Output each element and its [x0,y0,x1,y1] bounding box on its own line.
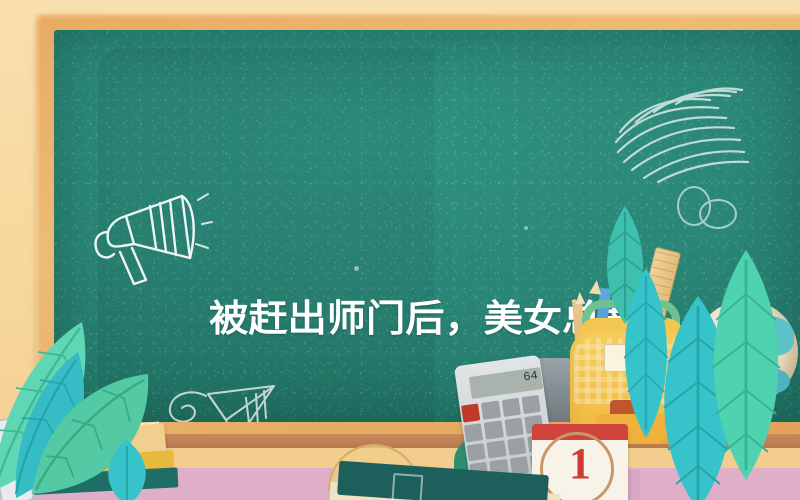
calculator-key [481,401,500,420]
pencil-tip [575,292,586,305]
book-emblem [391,473,424,500]
leaf-icon [96,440,158,500]
calculator-key [507,437,526,456]
calculator-key [487,440,506,459]
notepad-number: 1 [556,436,604,492]
calculator-key [467,443,486,462]
calculator-key [464,423,483,442]
calculator-key [501,398,520,417]
calculator-key [521,395,540,414]
calculator-key [504,417,523,436]
calculator-key [484,420,503,439]
leaf-icon [700,250,792,480]
banner-image: 被赶出师门后，美女总裁 主动求撩，短剧免费在线观看 全集介绍 64 [0,0,800,500]
calculator-key [461,403,480,422]
camera-lens [544,368,564,388]
